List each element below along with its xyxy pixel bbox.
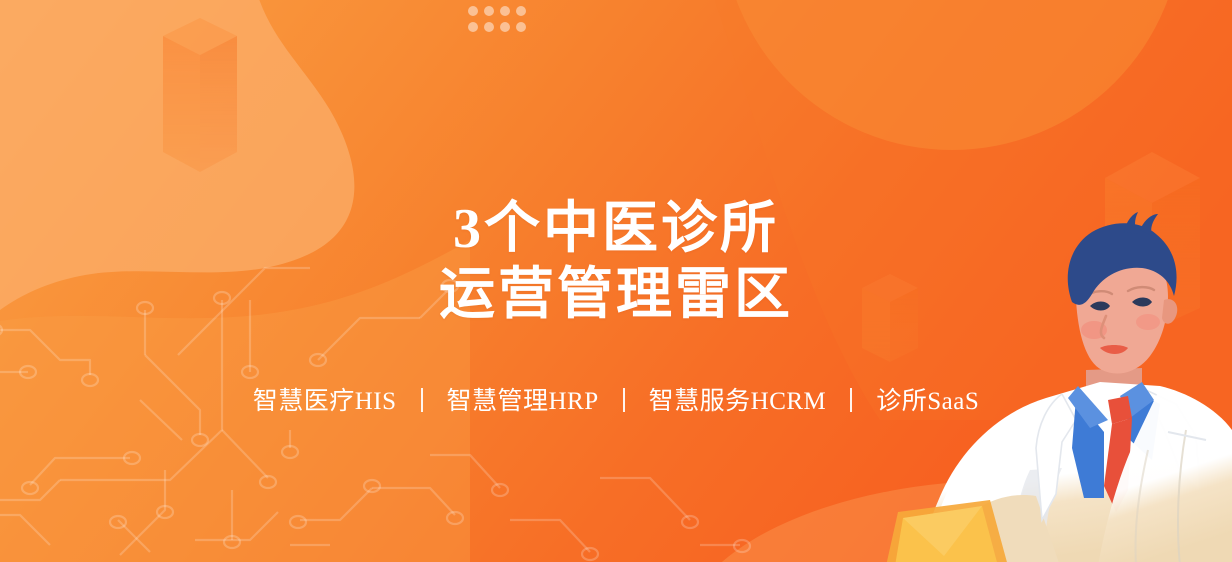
- subtitle-item-hcrm: 智慧服务HCRM: [649, 385, 827, 419]
- banner-title: 3个中医诊所 运营管理雷区: [0, 196, 1232, 328]
- dot: [516, 22, 526, 32]
- dot: [484, 6, 494, 16]
- dot-grid-decoration: [468, 0, 532, 24]
- dot: [500, 6, 510, 16]
- dot: [468, 6, 478, 16]
- subtitle-item-hrp: 智慧管理HRP: [447, 385, 599, 419]
- subtitle-item-saas: 诊所SaaS: [876, 385, 979, 419]
- dot: [500, 22, 510, 32]
- banner-title-line-1: 3个中医诊所: [0, 196, 1232, 262]
- hero-banner: 3个中医诊所 运营管理雷区 智慧医疗HIS 智慧管理HRP 智慧服务HCRM 诊…: [0, 0, 1232, 562]
- subtitle-item-his: 智慧医疗HIS: [253, 385, 397, 419]
- dot: [468, 22, 478, 32]
- dot: [484, 22, 494, 32]
- subtitle-separator: [421, 388, 423, 412]
- banner-subtitle: 智慧医疗HIS 智慧管理HRP 智慧服务HCRM 诊所SaaS: [0, 385, 1232, 419]
- banner-title-line-2: 运营管理雷区: [0, 262, 1232, 328]
- subtitle-separator: [623, 388, 625, 412]
- subtitle-separator: [850, 388, 852, 412]
- dot: [516, 6, 526, 16]
